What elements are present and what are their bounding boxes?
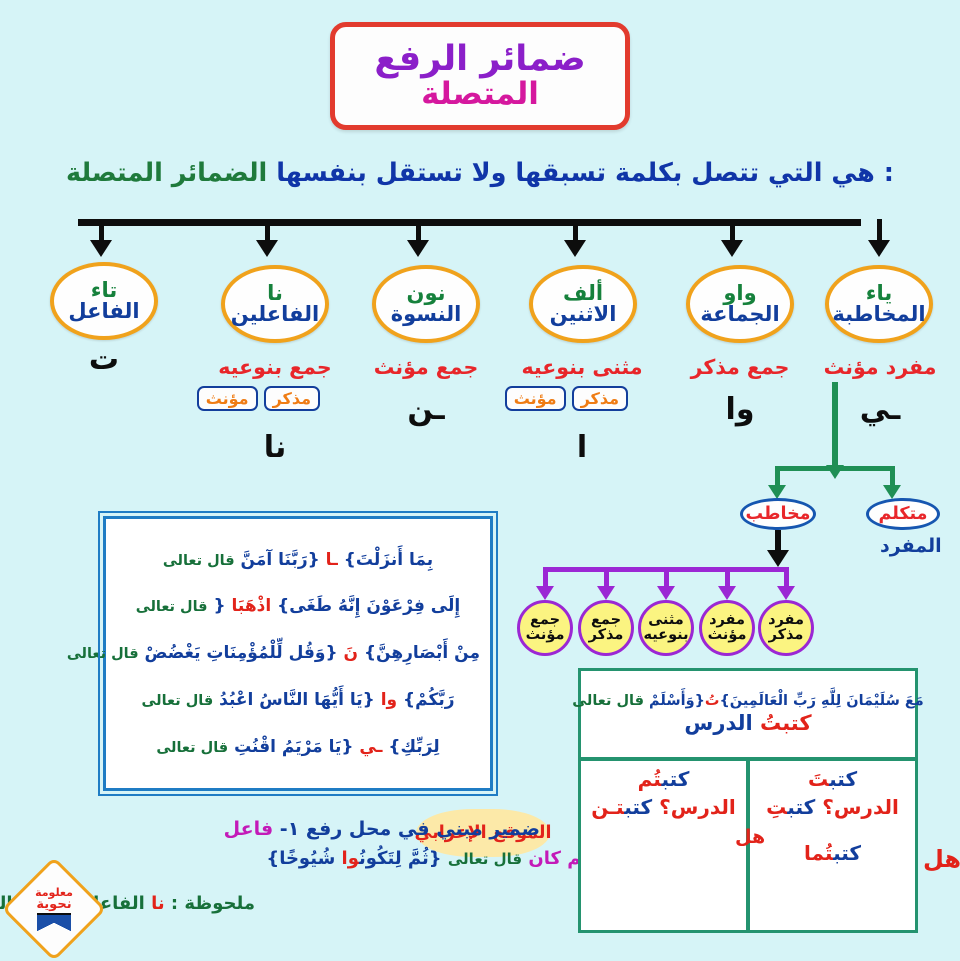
irab-quote-prefix: قال تعالى [448,850,522,868]
conjugation-column-left: كتبتُم الدرس؟ كتبتـن [581,761,746,930]
purple-arrow-down-icon-1 [536,586,554,600]
node-line-1: تاء [91,280,118,301]
verse-pre: {يَا مَرْيَمُ اقْنُتِ [234,737,353,757]
circle-line-2: مذكر [589,628,624,643]
node-letter-3: ا [517,430,647,465]
conj-stem: كتب [829,767,857,791]
irab-line-2: ٢- اسم كان قال تعالى {ثُمَّ لِتَكُونُوا … [266,848,630,869]
irab-line-1-number: ١- [280,818,300,840]
infographic-canvas: ضمائر الرفع المتصلة : هي التي تتصل بكلمة… [0,0,960,960]
conj-sentence-object: الدرس [684,711,752,735]
node-letter-1: ـي [820,392,940,427]
circle-line-1: جمع [530,613,560,628]
logo-content: معلومة نحوية [17,872,91,946]
verse-post: إِلَى فِرْعَوْنَ إِنَّهُ طَغَى} [277,596,460,616]
node-subtitle-2: جمع مذكر [680,355,800,379]
circle-line-2: بنوعيه [643,628,688,643]
verse-post: مِنْ أَبْصَارِهِنَّ} [364,643,480,663]
verse-highlight: اذْهَبَا [232,596,272,616]
node-letter-5: نا [210,430,340,465]
node-subtitle-5: جمع بنوعيه [210,355,340,379]
page-title-line-2: المتصلة [421,78,539,111]
green-arrow-down-icon-mukhatab [768,485,786,499]
verse-highlight: وا [381,690,397,710]
mufrad-caption: المفرد [880,535,942,557]
node-yaa-mukhataba[interactable]: ياء المخاطبة [825,265,933,343]
node-subtitle-1: مفرد مؤنث [820,355,940,379]
circle-line-2: مؤنث [708,628,747,643]
conjugation-row: كتبتُم [638,767,690,791]
node-letter-2: وا [680,392,800,427]
verse-pre: {رَبَّنَا آمَنَّ [241,550,320,570]
note-key: نا [151,893,165,914]
arrow-down-icon-mukhatab [767,550,789,567]
tag-mudhakkar: مذكر [264,386,320,411]
conjugation-row: الدرس؟ كتبتـن [591,795,736,819]
conjugation-row: كتبتُما [804,841,861,865]
verses-box: بِمَا أَنزَلْتَ} ـا {رَبَّنَا آمَنَّ قال… [103,516,493,791]
circle-jam-muannath[interactable]: جمع مؤنث [517,600,573,656]
node-letter-6: ت [50,342,158,377]
conjugation-verse: مَعَ سُلَيْمَانَ لِلَّهِ رَبِّ الْعَالَم… [572,693,924,709]
conj-suffix: تِ [766,795,787,819]
irab-verse-pre: {ثُمَّ لِتَكُونُ [359,848,442,869]
node-line-2: النسوة [391,304,462,325]
arrow-down-icon-3 [564,240,586,257]
verse-highlight: ـا [326,550,338,570]
node-line-1: ياء [866,283,893,304]
green-split-bar [775,466,895,471]
verse-quote-prefix: قال تعالى [141,693,213,709]
logo: معلومة نحوية [17,872,91,946]
node-na-faileen[interactable]: نا الفاعلين [221,265,329,343]
verse-pre: {وَقُل لِّلْمُؤْمِنَاتِ يَغْضُضْ [145,643,338,663]
tag-mudhakkar: مذكر [572,386,628,411]
conjugation-column-right: كتبتَ الدرس؟ كتبتِ كتبتُما [746,761,915,930]
node-taa-fail[interactable]: تاء الفاعل [50,262,158,340]
node-line-1: واو [723,283,756,304]
verse-row: بِمَا أَنزَلْتَ} ـا {رَبَّنَا آمَنَّ قال… [116,550,480,570]
circle-mufrad-mudhakkar[interactable]: مفرد مذكر [758,600,814,656]
verse-pre: {يَا أَيُّهَا النَّاسُ اعْبُدُ [219,690,375,710]
verse-post: لِرَبِّكِ} [388,737,439,757]
circle-line-1: مثنى [648,613,684,628]
arrow-down-icon-5 [256,240,278,257]
node-waw-jamaa[interactable]: واو الجماعة [686,265,794,343]
node-mukhatab-label: مخاطب [745,504,810,524]
node-subtitle-4: جمع مؤنث [366,355,486,379]
conj-stem: كتب [661,767,689,791]
book-icon [37,913,71,932]
conj-suffix: تُما [804,841,833,865]
circle-muthanna-binawayhi[interactable]: مثنى بنوعيه [638,600,694,656]
conj-suffix: تَ [808,767,829,791]
irab-verse-post: شُيُوخًا} [266,848,341,869]
green-arrow-down-icon-mutakallim [883,485,901,499]
conj-stem: كتب [787,795,815,819]
circle-line-2: مؤنث [526,628,565,643]
node-mukhatab[interactable]: مخاطب [740,498,816,530]
conjugation-box: مَعَ سُلَيْمَانَ لِلَّهِ رَبِّ الْعَالَم… [578,668,918,933]
conj-stem: كتب [624,795,652,819]
conj-quote-prefix: قال تعالى [572,693,644,709]
verse-quote-prefix: قال تعالى [156,740,228,756]
tag-muannath: مؤنث [197,386,258,411]
irab-verse-highlight: وا [342,848,359,869]
purple-arrow-down-icon-2 [597,586,615,600]
circle-line-1: مفرد [768,613,804,628]
conj-verse-post: مَعَ سُلَيْمَانَ لِلَّهِ رَبِّ الْعَالَم… [719,693,923,709]
verse-quote-prefix: قال تعالى [67,646,139,662]
definition-rest: : هي التي تتصل بكلمة تسبقها ولا تستقل بن… [276,158,894,188]
page-title-box: ضمائر الرفع المتصلة [330,22,630,130]
definition-line: : هي التي تتصل بكلمة تسبقها ولا تستقل بن… [0,158,960,188]
tree-connector-bar [78,219,861,226]
node-mutakallim-label: متكلم [878,504,927,524]
definition-term: الضمائر المتصلة [66,158,267,188]
node-line-1: نون [407,283,446,304]
circle-jam-mudhakkar[interactable]: جمع مذكر [578,600,634,656]
conj-suffix: تـن [591,795,624,819]
conj-verse-pre: {وَأَسْلَمْ [649,693,705,709]
logo-line-1: معلومة [35,887,73,898]
node-line-2: المخاطبة [832,304,925,325]
node-subtitle-3: مثنى بنوعيه [517,355,647,379]
conj-sentence-verb: كتبتُ [760,711,812,735]
node-line-2: الاثنين [550,304,617,325]
node-line-2: الفاعلين [231,304,319,325]
node-tags-3: مذكر مؤنث [505,386,628,411]
conjugation-sentence: كتبتُ الدرس [684,711,811,735]
node-nun-niswa[interactable]: نون النسوة [372,265,480,343]
conj-verse-highlight: تُ [705,693,720,709]
conj-suffix: تُم [638,767,662,791]
node-line-1: ألف [563,283,603,304]
verse-highlight: نَ [344,643,359,663]
purple-arrow-down-icon-5 [777,586,795,600]
conj-tail: الدرس؟ [822,795,899,819]
node-mutakallim[interactable]: متكلم [866,498,940,530]
conj-tail: الدرس؟ [659,795,736,819]
hal-label-outer: هل [923,845,960,873]
node-line-2: الجماعة [700,304,779,325]
arrow-down-icon-2 [721,240,743,257]
hal-label-inner: هل [735,826,765,848]
circle-mufrad-muannath[interactable]: مفرد مؤنث [699,600,755,656]
irab-line-1-role: فاعل [224,818,274,840]
arrow-down-icon-6 [90,240,112,257]
node-alif-ithnayn[interactable]: ألف الاثنين [529,265,637,343]
node-letter-4: ـن [366,392,486,427]
conj-stem: كتب [833,841,861,865]
irab-line-1: ضمير مبني في محل رفع ١- فاعل [224,818,540,840]
verse-row: إِلَى فِرْعَوْنَ إِنَّهُ طَغَى} اذْهَبَا… [116,596,480,616]
verse-highlight: ـي [359,737,382,757]
node-line-2: الفاعل [68,301,139,322]
verse-row: لِرَبِّكِ} ـي {يَا مَرْيَمُ اقْنُتِ قال … [116,737,480,757]
page-title-line-1: ضمائر الرفع [374,41,585,78]
circle-line-2: مذكر [769,628,804,643]
circle-line-1: مفرد [709,613,745,628]
verse-post: رَبَّكُمْ} [403,690,455,710]
arrow-down-icon-4 [407,240,429,257]
conjugation-row: الدرس؟ كتبتِ [766,795,899,819]
arrow-down-icon-1 [868,240,890,257]
irab-line-1-main: ضمير مبني في محل رفع [306,818,540,840]
verse-row: رَبَّكُمْ} وا {يَا أَيُّهَا النَّاسُ اعْ… [116,690,480,710]
node-tags-5: مذكر مؤنث [197,386,320,411]
conjugation-row: كتبتَ [808,767,857,791]
verse-quote-prefix: قال تعالى [136,599,208,615]
verse-pre: { [213,596,225,616]
purple-arrow-down-icon-4 [718,586,736,600]
verse-row: مِنْ أَبْصَارِهِنَّ} نَ {وَقُل لِّلْمُؤْ… [116,643,480,663]
logo-line-2: نحوية [36,898,71,911]
verse-post: بِمَا أَنزَلْتَ} [344,550,433,570]
conjugation-header: مَعَ سُلَيْمَانَ لِلَّهِ رَبِّ الْعَالَم… [581,671,915,761]
node-line-1: نا [267,283,283,304]
circle-line-1: جمع [591,613,621,628]
tag-muannath: مؤنث [505,386,566,411]
note-label: ملحوظة : [171,893,255,914]
verse-quote-prefix: قال تعالى [163,553,235,569]
green-stem [832,382,838,470]
purple-arrow-down-icon-3 [657,586,675,600]
